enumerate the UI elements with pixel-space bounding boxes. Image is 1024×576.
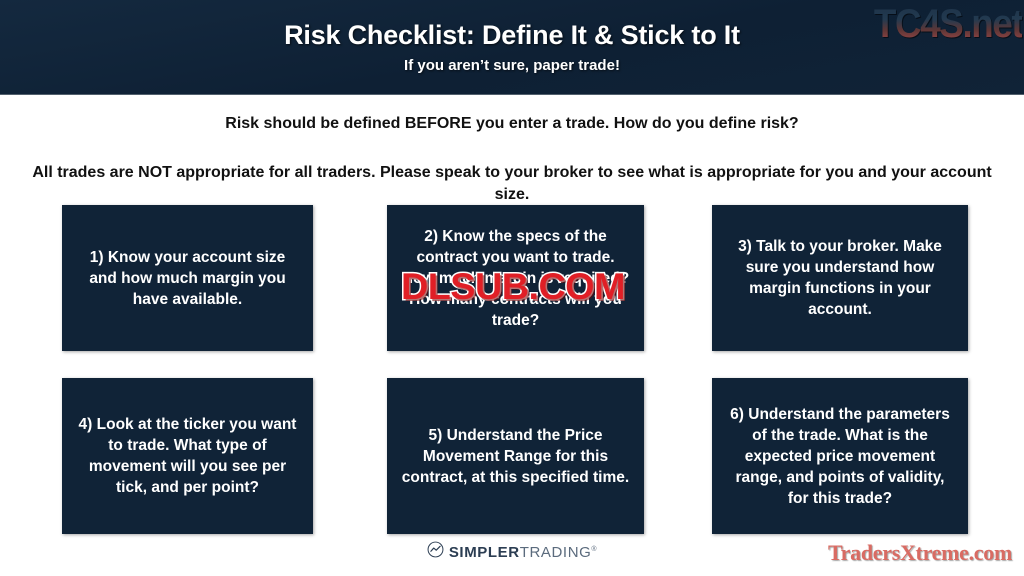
checklist-box-3: 3) Talk to your broker. Make sure you un…: [712, 205, 968, 351]
page-title: Risk Checklist: Define It & Stick to It: [0, 20, 1024, 51]
intro-question-text: Risk should be defined BEFORE you enter …: [0, 115, 1024, 133]
checklist-box-2-text: 2) Know the specs of the contract you wa…: [387, 222, 644, 335]
brand-wordmark: SIMPLERTRADING®: [449, 544, 597, 561]
chart-circle-icon: [427, 541, 444, 563]
brand-bold: SIMPLER: [449, 544, 520, 561]
checklist-box-5-text: 5) Understand the Price Movement Range f…: [387, 421, 644, 492]
header-band: Risk Checklist: Define It & Stick to It …: [0, 0, 1024, 95]
checklist-box-4: 4) Look at the ticker you want to trade.…: [62, 378, 313, 534]
checklist-box-1: 1) Know your account size and how much m…: [62, 205, 313, 351]
slide-canvas: Risk Checklist: Define It & Stick to It …: [0, 0, 1024, 576]
brand-registered-mark: ®: [591, 546, 597, 553]
checklist-box-2: 2) Know the specs of the contract you wa…: [387, 205, 644, 351]
checklist-box-5: 5) Understand the Price Movement Range f…: [387, 378, 644, 534]
checklist-box-1-text: 1) Know your account size and how much m…: [62, 243, 313, 314]
tradersxtreme-watermark: TradersXtreme.com: [828, 540, 1012, 566]
checklist-box-6: 6) Understand the parameters of the trad…: [712, 378, 968, 534]
intro-disclaimer-text: All trades are NOT appropriate for all t…: [30, 162, 994, 206]
checklist-box-3-text: 3) Talk to your broker. Make sure you un…: [712, 232, 968, 324]
tc4s-watermark: TC4S.net: [874, 2, 1022, 47]
checklist-box-6-text: 6) Understand the parameters of the trad…: [712, 400, 968, 513]
page-subtitle: If you aren’t sure, paper trade!: [0, 57, 1024, 74]
brand-light: TRADING: [520, 544, 592, 561]
checklist-box-4-text: 4) Look at the ticker you want to trade.…: [62, 410, 313, 502]
